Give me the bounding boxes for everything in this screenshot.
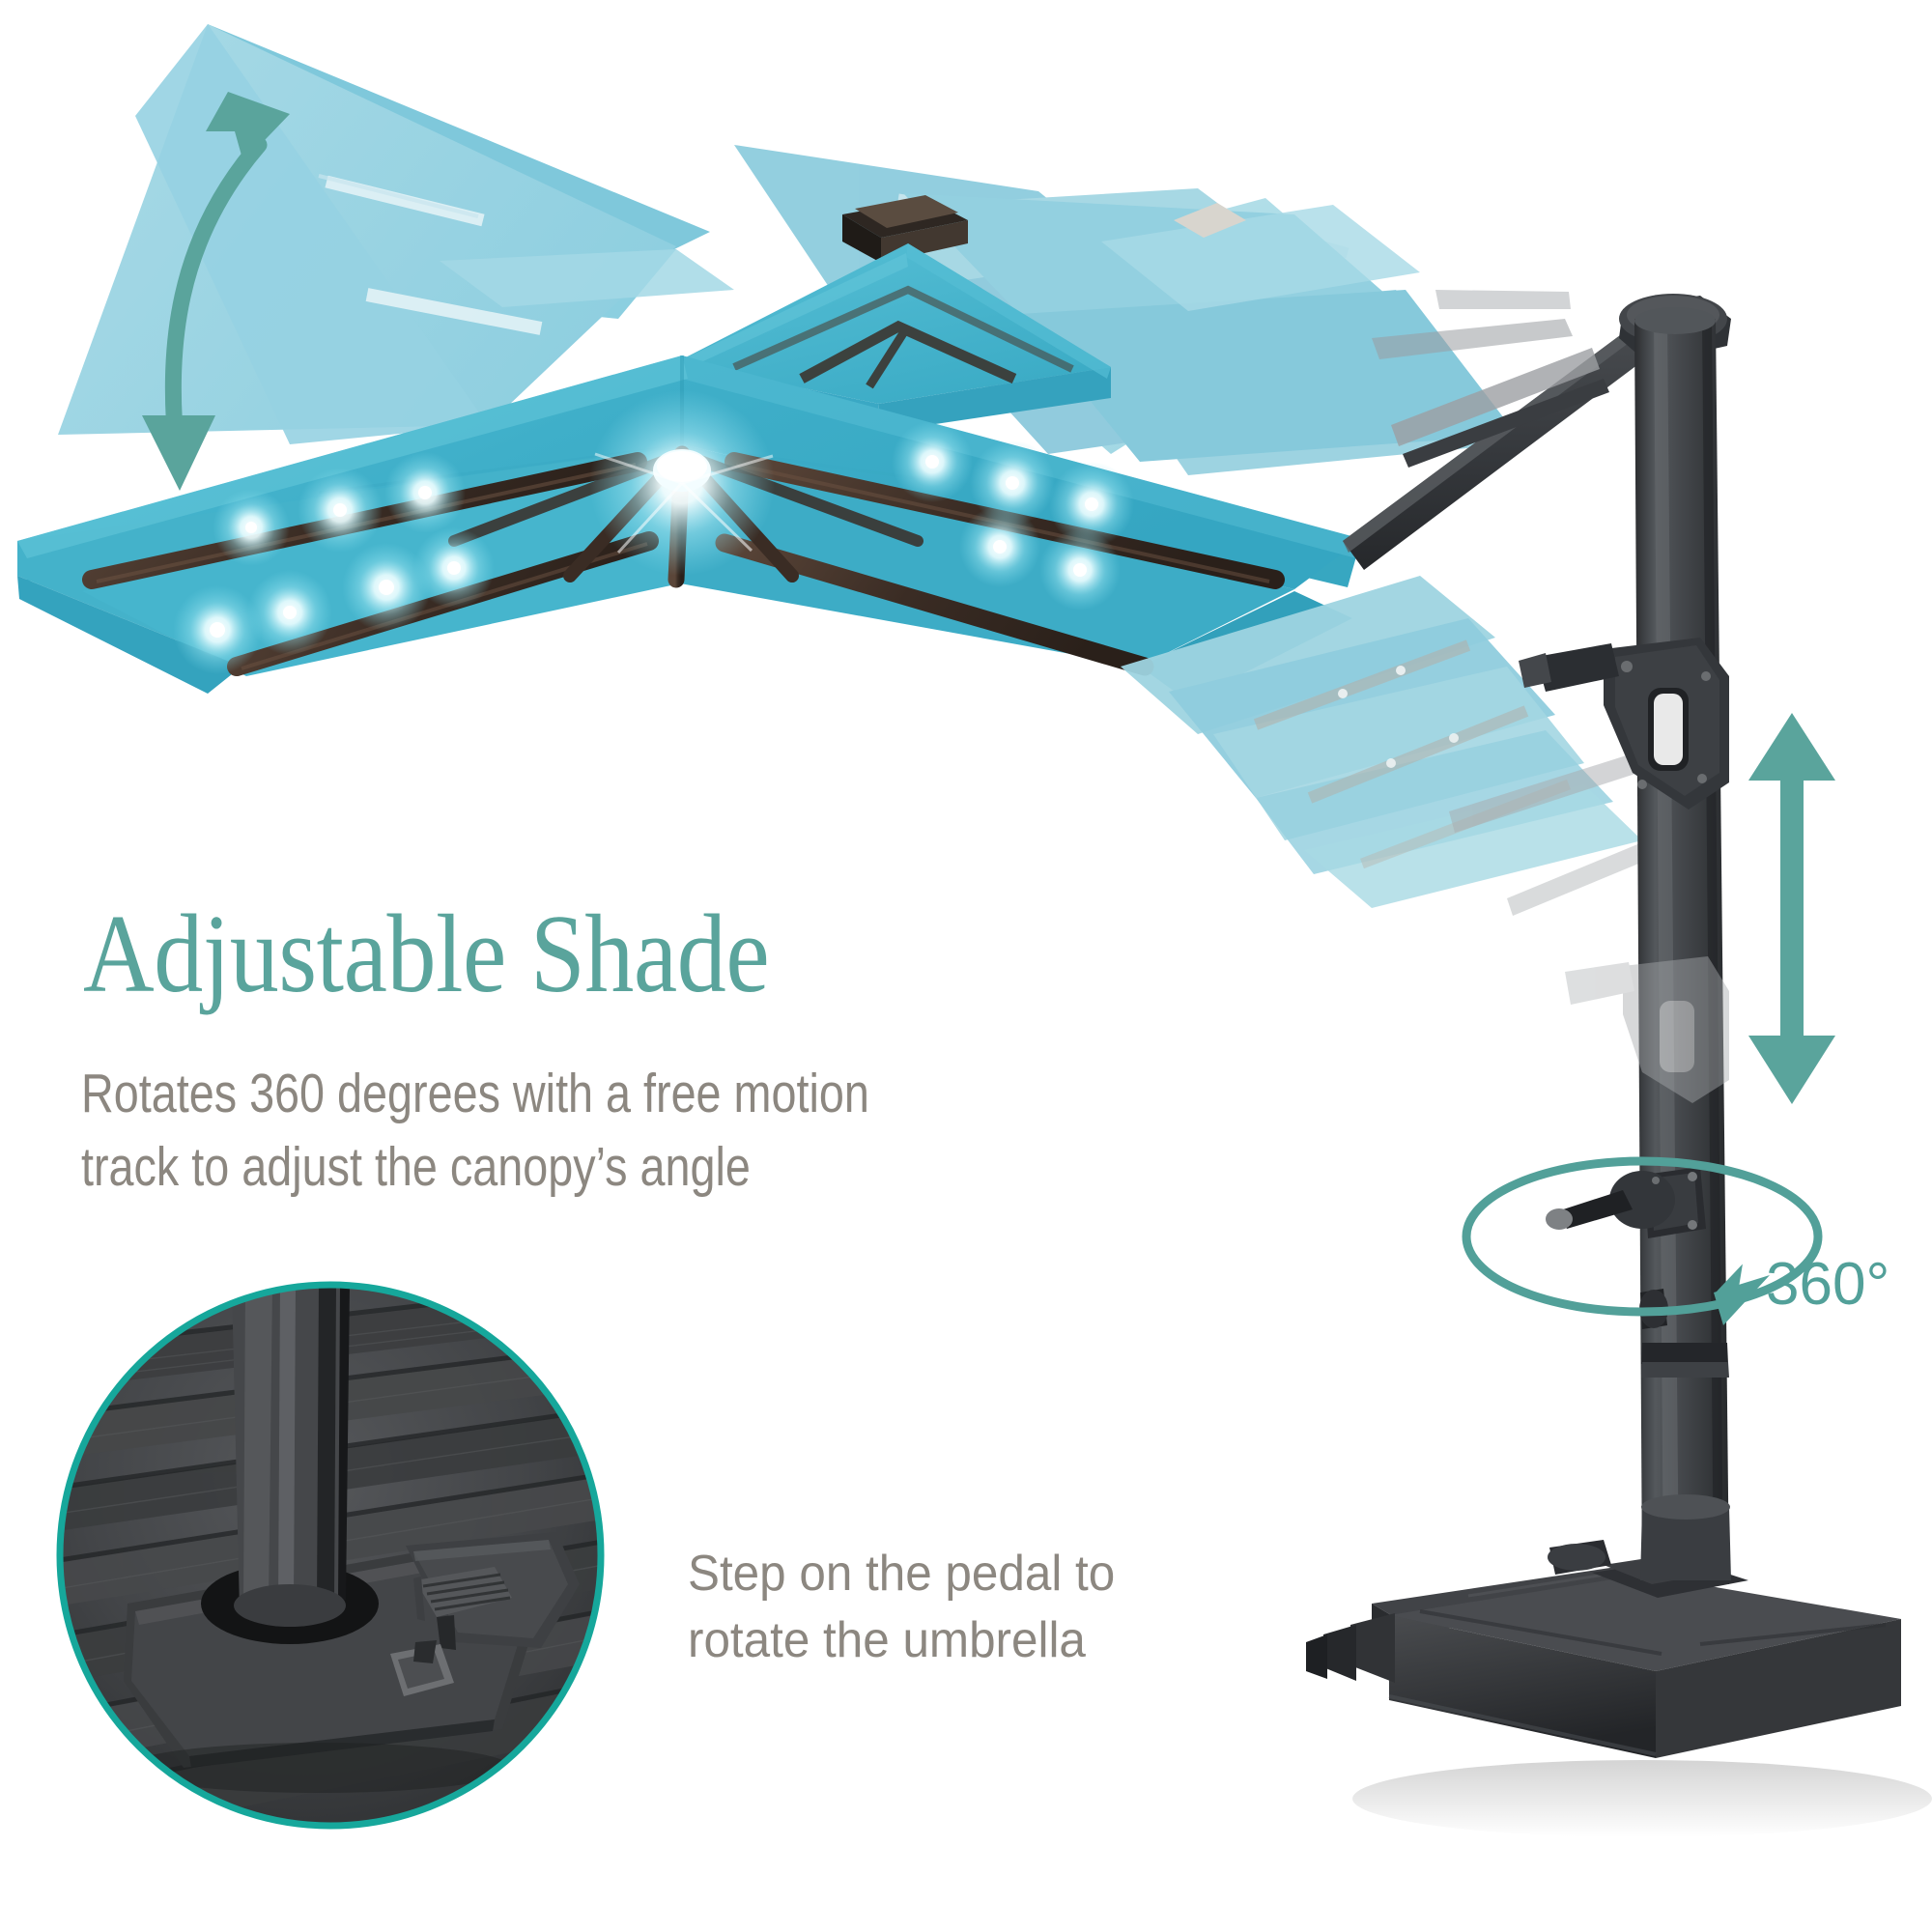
pedal-caption-line-1: Step on the pedal to <box>688 1541 1115 1607</box>
base-pedal-closeup-inset <box>27 1283 663 1849</box>
rotation-crank[interactable] <box>1546 1167 1706 1238</box>
product-feature-graphic: Adjustable Shade Rotates 360 degrees wit… <box>0 0 1932 1932</box>
pedal-caption-line-2: rotate the umbrella <box>688 1607 1115 1674</box>
page-title: Adjustable Shade <box>83 898 769 1010</box>
umbrella-pole <box>1634 307 1729 1584</box>
umbrella-base <box>1306 1494 1932 1837</box>
rotation-degree-label: 360° <box>1766 1250 1889 1319</box>
center-hub-led <box>589 390 775 576</box>
subtitle-line-2: track to adjust the canopy’s angle <box>81 1131 869 1205</box>
subtitle-text: Rotates 360 degrees with a free motion t… <box>81 1058 869 1205</box>
subtitle-line-1: Rotates 360 degrees with a free motion <box>81 1058 869 1131</box>
pedal-caption-text: Step on the pedal to rotate the umbrella <box>688 1541 1115 1674</box>
vertical-double-arrow-icon <box>1748 713 1835 1104</box>
